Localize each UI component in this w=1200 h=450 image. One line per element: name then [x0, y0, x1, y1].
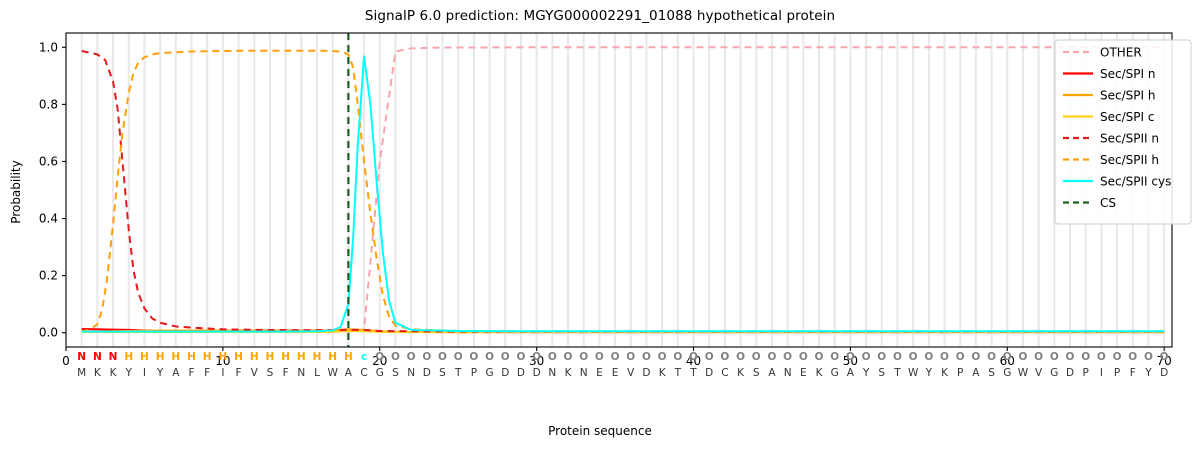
- region-label: O: [862, 351, 871, 363]
- sequence-residue: L: [314, 367, 320, 379]
- sequence-residue: D: [517, 367, 525, 379]
- sequence-residue: K: [565, 367, 573, 379]
- sequence-residue: F: [188, 367, 194, 379]
- sequence-residue: M: [77, 367, 86, 379]
- sequence-residue: W: [327, 367, 338, 379]
- region-label: H: [234, 351, 243, 363]
- region-label: N: [109, 351, 118, 363]
- sequence-residue: S: [439, 367, 446, 379]
- legend-label[interactable]: Sec/SPI c: [1100, 110, 1154, 124]
- region-label: O: [689, 351, 698, 363]
- region-label: O: [909, 351, 918, 363]
- grid-lines: [82, 33, 1164, 347]
- region-label: O: [564, 351, 573, 363]
- region-label: O: [1160, 351, 1169, 363]
- region-label: H: [156, 351, 165, 363]
- region-label: O: [767, 351, 776, 363]
- region-label: O: [1097, 351, 1106, 363]
- region-label: O: [956, 351, 965, 363]
- y-tick-label: 0.6: [39, 154, 58, 168]
- y-tick-label: 0.2: [39, 269, 58, 283]
- sequence-residue: C: [721, 367, 728, 379]
- sequence-residue: F: [283, 367, 289, 379]
- sequence-residue: I: [221, 367, 224, 379]
- region-label: O: [391, 351, 400, 363]
- sequence-residue: T: [454, 367, 462, 379]
- sequence-residue: N: [548, 367, 556, 379]
- region-label: O: [799, 351, 808, 363]
- region-label: O: [1066, 351, 1075, 363]
- region-label: O: [987, 351, 996, 363]
- sequence-residue: A: [172, 367, 180, 379]
- region-label: O: [579, 351, 588, 363]
- sequence-residue: G: [831, 367, 839, 379]
- sequence-residue: S: [267, 367, 274, 379]
- x-axis-label: Protein sequence: [0, 424, 1200, 438]
- sequence-residue: V: [251, 367, 259, 379]
- axes: [66, 33, 1172, 347]
- region-label: H: [281, 351, 290, 363]
- series-line: [82, 51, 1164, 332]
- region-label: O: [1018, 351, 1027, 363]
- sequence-residue: V: [1035, 367, 1043, 379]
- region-label: O: [815, 351, 824, 363]
- sequence-residue: C: [360, 367, 367, 379]
- sequence-residue: N: [407, 367, 415, 379]
- sequence-residue: P: [957, 367, 963, 379]
- sequence-residue: D: [423, 367, 431, 379]
- sequence-residue: I: [143, 367, 146, 379]
- page-title: SignalP 6.0 prediction: MGYG000002291_01…: [0, 8, 1200, 24]
- region-label: O: [971, 351, 980, 363]
- axis-ticks: 0.00.20.40.60.81.0010203040506070: [39, 40, 1172, 368]
- series-line: [82, 47, 1164, 331]
- series-line: [82, 51, 1164, 332]
- region-label: H: [313, 351, 322, 363]
- region-label: H: [140, 351, 149, 363]
- sequence-residue: T: [689, 367, 697, 379]
- sequence-residue: V: [627, 367, 635, 379]
- sequence-residue: G: [1003, 367, 1011, 379]
- region-label: H: [171, 351, 180, 363]
- sequence-residue: D: [705, 367, 713, 379]
- sequence-residue: N: [297, 367, 305, 379]
- sequence-residue: A: [972, 367, 980, 379]
- region-label: O: [407, 351, 416, 363]
- sequence-residue: Y: [125, 367, 133, 379]
- sequence-residue: A: [345, 367, 353, 379]
- region-label: O: [595, 351, 604, 363]
- region-label: O: [877, 351, 886, 363]
- legend[interactable]: OTHERSec/SPI nSec/SPI hSec/SPI cSec/SPII…: [1055, 40, 1191, 224]
- region-label: O: [736, 351, 745, 363]
- sequence-residue: D: [1066, 367, 1074, 379]
- region-label: H: [203, 351, 212, 363]
- y-axis-label: Probability: [9, 102, 23, 282]
- plot-canvas: 0.00.20.40.60.81.0010203040506070 NMNKNK…: [0, 0, 1200, 450]
- sequence-residue: F: [236, 367, 242, 379]
- region-label: O: [375, 351, 384, 363]
- sequence-residue: E: [612, 367, 619, 379]
- region-label: H: [344, 351, 353, 363]
- sequence-residue: N: [784, 367, 792, 379]
- legend-label[interactable]: Sec/SPII h: [1100, 153, 1159, 167]
- region-label: O: [1081, 351, 1090, 363]
- region-label: O: [705, 351, 714, 363]
- sequence-residue: D: [533, 367, 541, 379]
- sequence-residue: F: [204, 367, 210, 379]
- region-label: N: [93, 351, 102, 363]
- sequence-residue: Y: [1144, 367, 1152, 379]
- region-label: H: [187, 351, 196, 363]
- region-label: O: [924, 351, 933, 363]
- sequence-residue: D: [501, 367, 509, 379]
- sequence-residue: K: [941, 367, 949, 379]
- signalp-prediction-figure: SignalP 6.0 prediction: MGYG000002291_01…: [0, 0, 1200, 450]
- region-label: O: [1144, 351, 1153, 363]
- region-label: O: [830, 351, 839, 363]
- axes-frame: [66, 33, 1172, 347]
- region-label: O: [501, 351, 510, 363]
- y-tick-label: 0.4: [39, 212, 58, 226]
- sequence-residue: P: [1114, 367, 1120, 379]
- sequence-residue: S: [753, 367, 760, 379]
- sequence-residue: W: [908, 367, 919, 379]
- sequence-residue: K: [110, 367, 118, 379]
- sequence-residue: Y: [156, 367, 164, 379]
- sequence-residue: K: [737, 367, 745, 379]
- region-label: O: [720, 351, 729, 363]
- region-label: N: [77, 351, 86, 363]
- region-label: O: [752, 351, 761, 363]
- region-label: O: [673, 351, 682, 363]
- region-label: H: [266, 351, 275, 363]
- region-label: O: [532, 351, 541, 363]
- region-label: O: [846, 351, 855, 363]
- region-label: H: [297, 351, 306, 363]
- region-label: O: [454, 351, 463, 363]
- region-label: c: [361, 351, 367, 363]
- region-label: O: [611, 351, 620, 363]
- region-label: O: [783, 351, 792, 363]
- y-tick-label: 0.8: [39, 97, 58, 111]
- sequence-residue: F: [1130, 367, 1136, 379]
- sequence-residue: T: [674, 367, 682, 379]
- sequence-residue: K: [816, 367, 824, 379]
- sequence-residue: S: [878, 367, 885, 379]
- region-label: O: [940, 351, 949, 363]
- region-label: O: [516, 351, 525, 363]
- region-label: O: [893, 351, 902, 363]
- region-label: O: [1034, 351, 1043, 363]
- sequence-residue: D: [1160, 367, 1168, 379]
- legend-label[interactable]: CS: [1100, 196, 1116, 210]
- sequence-residue: S: [988, 367, 995, 379]
- sequence-residue: P: [471, 367, 477, 379]
- region-label: O: [658, 351, 667, 363]
- series-line: [82, 56, 1164, 331]
- region-label: O: [1113, 351, 1122, 363]
- region-label: O: [1003, 351, 1012, 363]
- region-label: O: [642, 351, 651, 363]
- sequence-residue: W: [1018, 367, 1029, 379]
- region-label: H: [250, 351, 259, 363]
- sequence-residue: T: [893, 367, 901, 379]
- x-tick-label: 0: [62, 354, 70, 368]
- sequence-residue: A: [768, 367, 776, 379]
- sequence-residue: I: [1100, 367, 1103, 379]
- legend-label[interactable]: OTHER: [1100, 46, 1142, 60]
- sequence-residue: D: [642, 367, 650, 379]
- sequence-residue: N: [580, 367, 588, 379]
- sequence-residue: A: [847, 367, 855, 379]
- region-label: O: [485, 351, 494, 363]
- sequence-residue: S: [392, 367, 399, 379]
- sequence-residue: Y: [925, 367, 933, 379]
- y-tick-label: 1.0: [39, 40, 58, 54]
- region-label: H: [328, 351, 337, 363]
- sequence-residue: Y: [862, 367, 870, 379]
- sequence-residue: K: [94, 367, 102, 379]
- region-label: O: [626, 351, 635, 363]
- sequence-residue: G: [486, 367, 494, 379]
- series-lines: [82, 33, 1164, 347]
- y-tick-label: 0.0: [39, 326, 58, 340]
- sequence-residue: K: [659, 367, 667, 379]
- region-label: O: [548, 351, 557, 363]
- region-label: O: [1128, 351, 1137, 363]
- legend-label[interactable]: Sec/SPII cys: [1100, 175, 1171, 189]
- sequence-residue: G: [1050, 367, 1058, 379]
- region-label: O: [469, 351, 478, 363]
- region-label: O: [422, 351, 431, 363]
- region-label: H: [124, 351, 133, 363]
- legend-label[interactable]: Sec/SPI n: [1100, 67, 1155, 81]
- region-label: H: [218, 351, 227, 363]
- region-label: O: [1050, 351, 1059, 363]
- region-label: O: [438, 351, 447, 363]
- sequence-residue: G: [376, 367, 384, 379]
- legend-label[interactable]: Sec/SPI h: [1100, 89, 1155, 103]
- sequence-residue: E: [596, 367, 603, 379]
- sequence-residue: E: [800, 367, 807, 379]
- legend-label[interactable]: Sec/SPII n: [1100, 132, 1159, 146]
- sequence-residue: P: [1083, 367, 1089, 379]
